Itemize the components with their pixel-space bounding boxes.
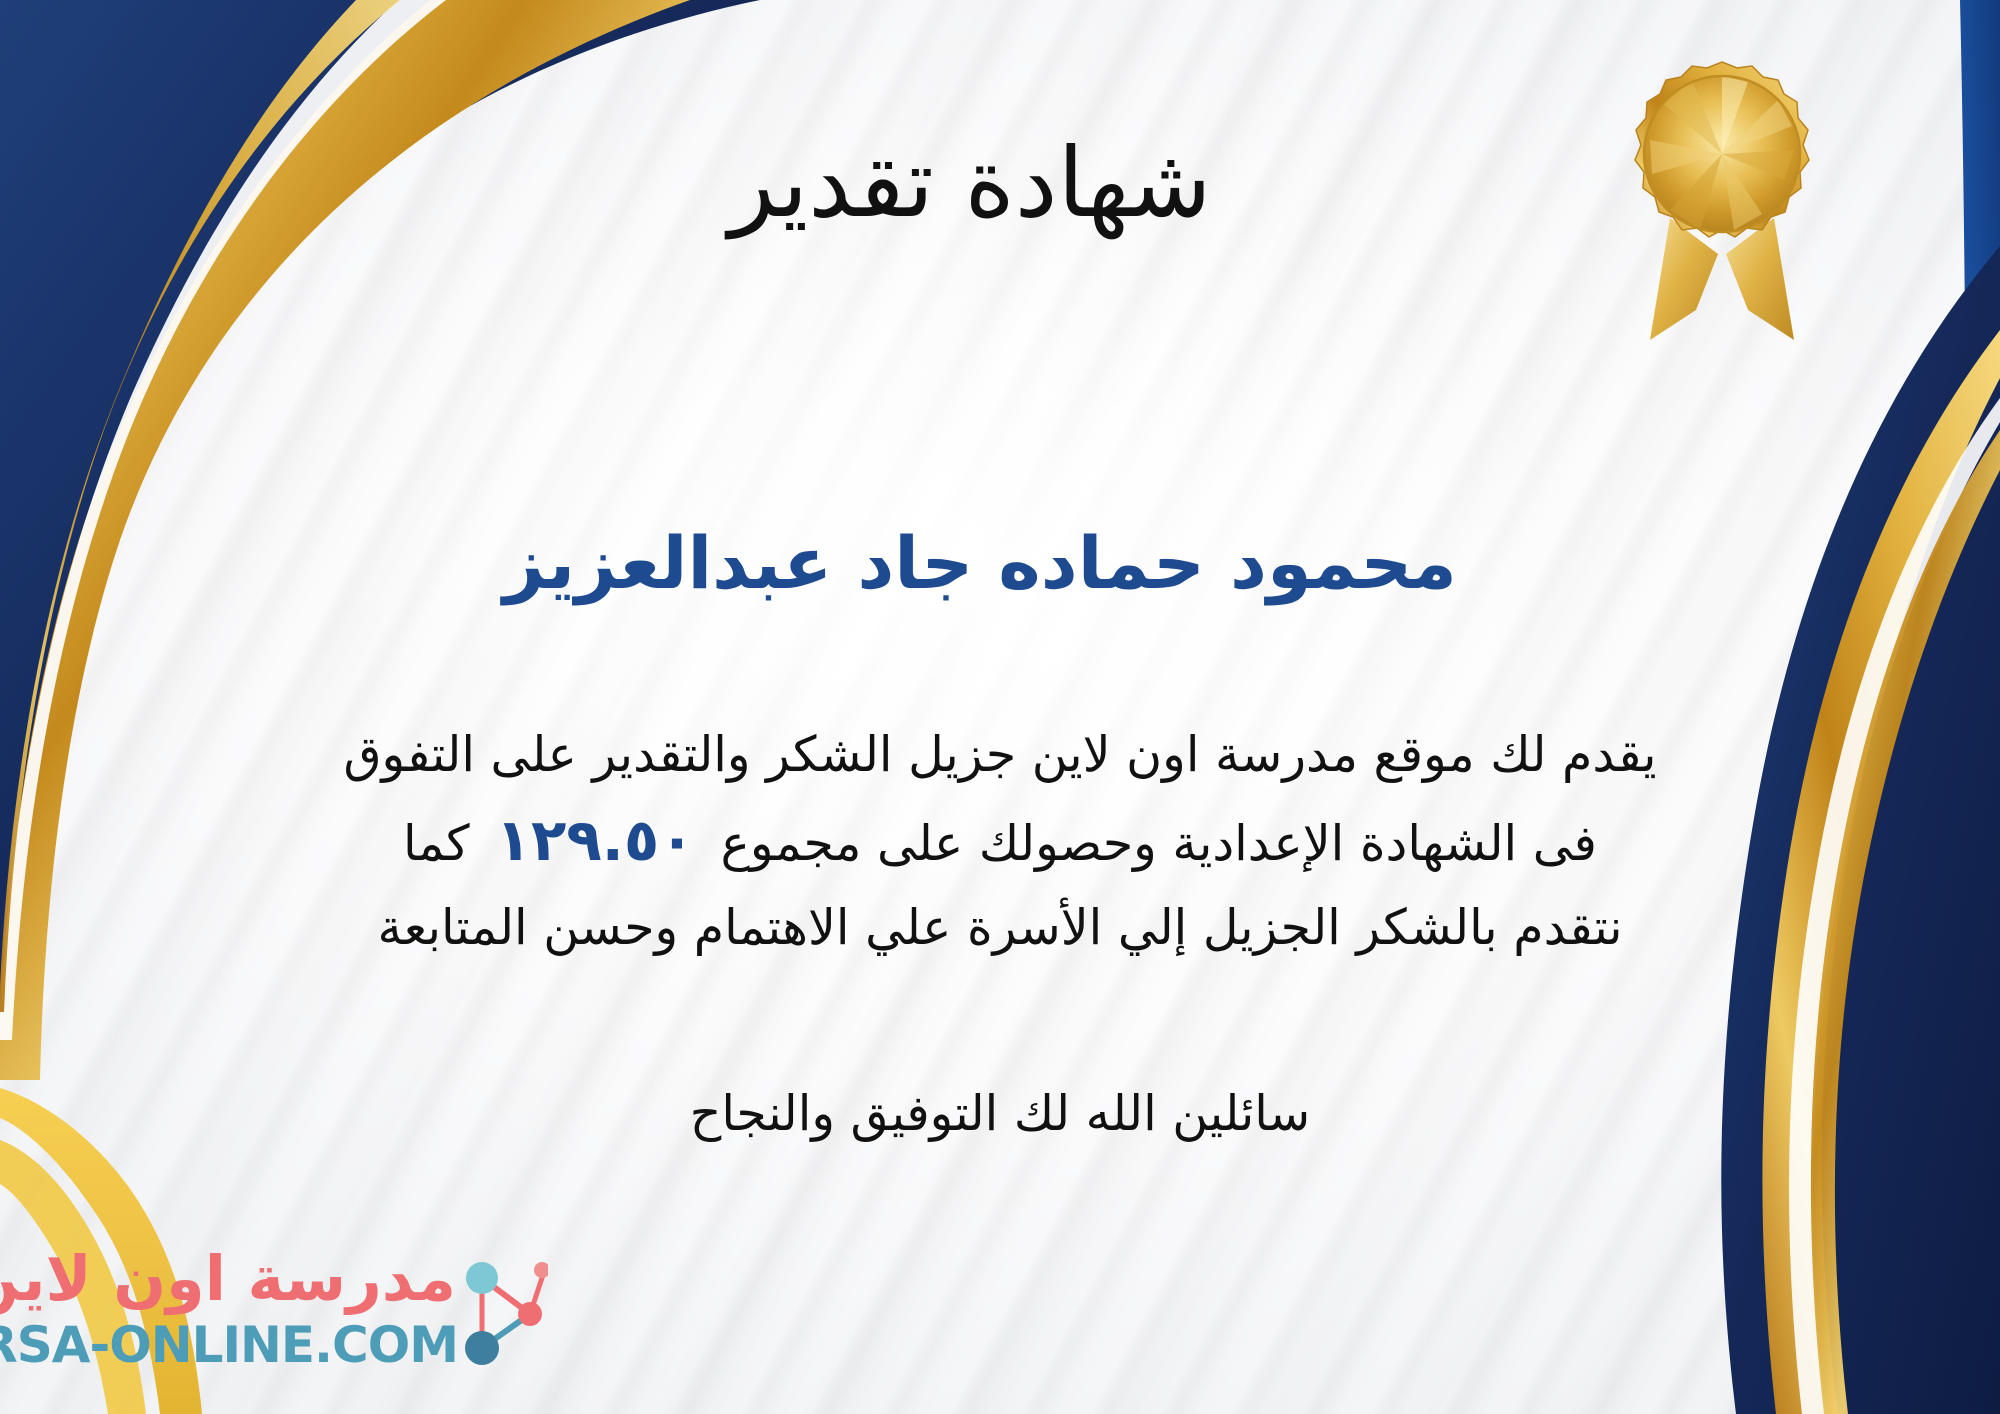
network-nodes-icon: [456, 1252, 548, 1374]
closing-line: سائلين الله لك التوفيق والنجاح: [60, 1085, 1940, 1142]
grade-total-value: ١٢٩.٥٠: [470, 806, 721, 874]
site-logo[interactable]: مدرسة اون لاين MADRSA-ONLINE.COM: [28, 1242, 548, 1392]
certificate-canvas: شهادة تقدير محمود حماده جاد عبدالعزيز يق…: [0, 0, 2000, 1414]
recipient-name: محمود حماده جاد عبدالعزيز: [0, 520, 2000, 606]
logo-arabic-name: مدرسة اون لاين: [0, 1248, 456, 1310]
body-line-1: يقدم لك موقع مدرسة اون لاين جزيل الشكر و…: [60, 715, 1940, 794]
body-line-2-suffix: كما: [403, 815, 470, 872]
logo-website-url: MADRSA-ONLINE.COM: [0, 1320, 458, 1370]
certificate-title: شهادة تقدير: [0, 128, 2000, 238]
body-line-2: فى الشهادة الإعدادية وحصولك على مجموع١٢٩…: [60, 794, 1940, 888]
body-line-2-prefix: فى الشهادة الإعدادية وحصولك على مجموع: [721, 815, 1597, 872]
certificate-body-text: يقدم لك موقع مدرسة اون لاين جزيل الشكر و…: [60, 715, 1940, 968]
body-line-3: نتقدم بالشكر الجزيل إلي الأسرة علي الاهت…: [60, 888, 1940, 967]
